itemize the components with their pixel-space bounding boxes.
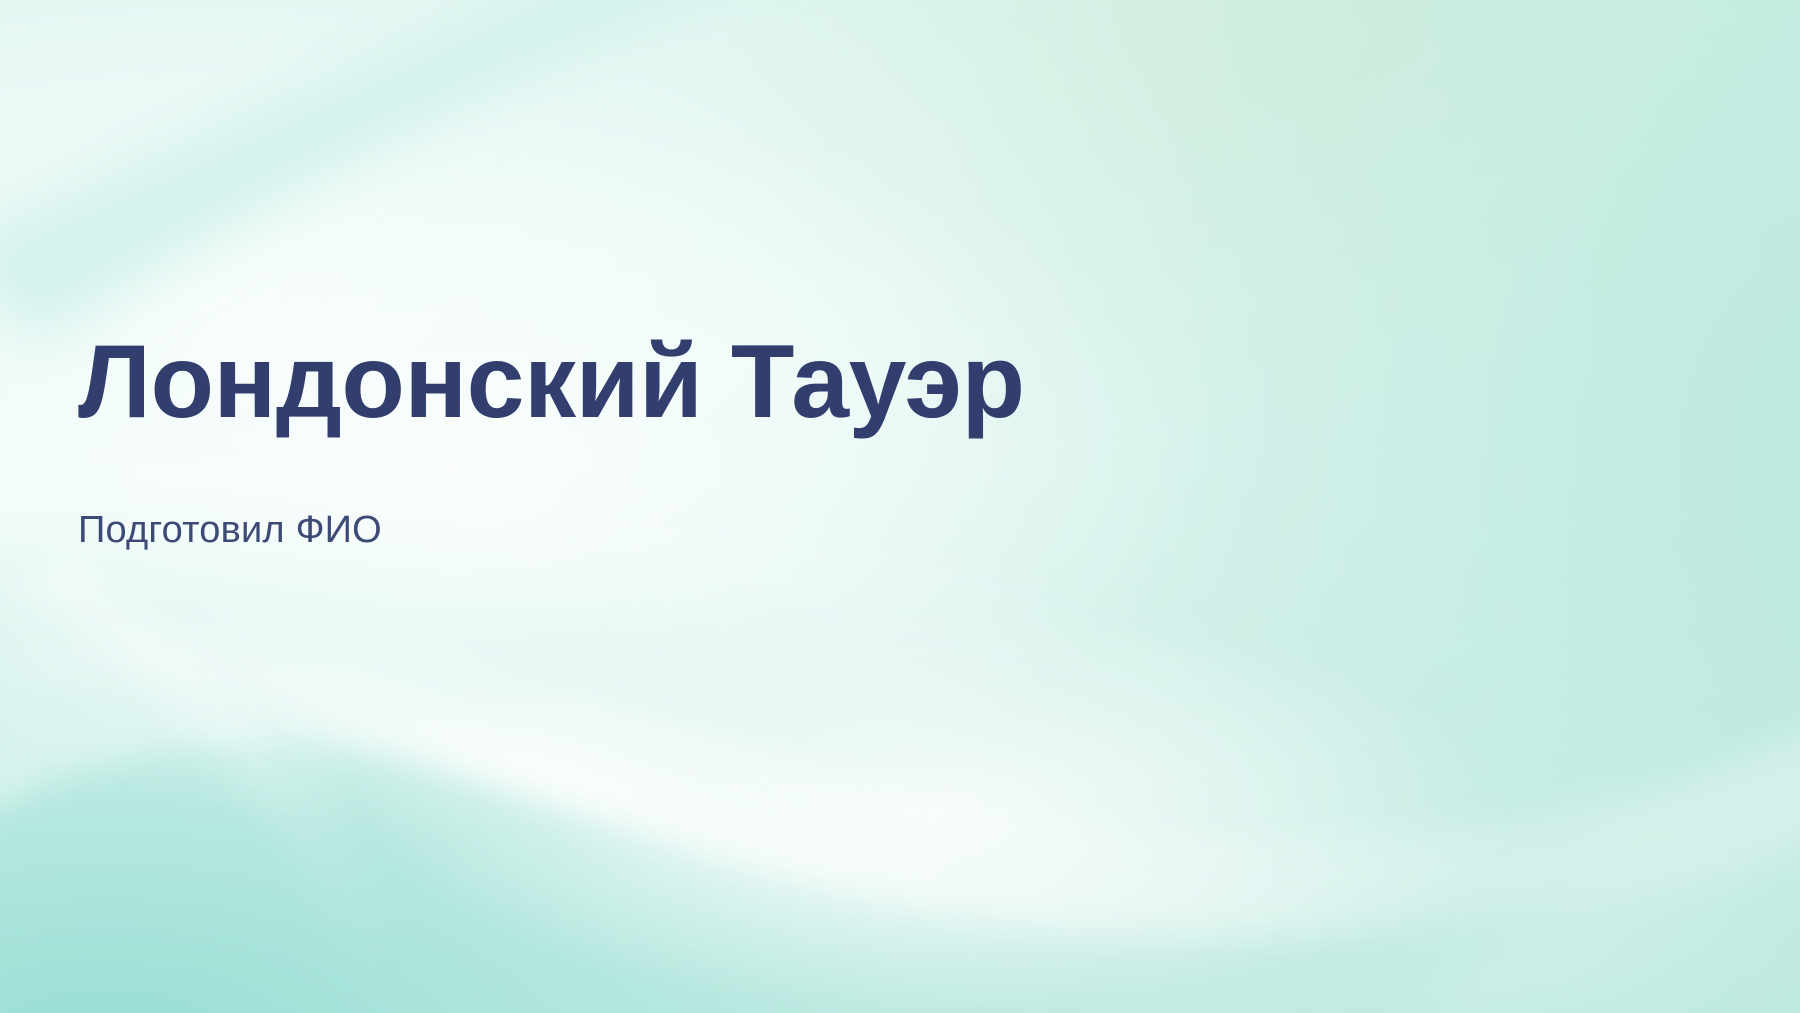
wave-band-lower-sweep bbox=[0, 620, 1800, 939]
wave-band-top-left bbox=[0, 0, 820, 350]
wave-band-bottom-right bbox=[1400, 740, 1800, 1013]
page-title: Лондонский Тауэр bbox=[78, 328, 1378, 436]
slide-text-block: Лондонский Тауэр Подготовил ФИО bbox=[78, 328, 1378, 554]
wave-streak-left bbox=[20, 560, 470, 1013]
slide-subtitle-author: Подготовил ФИО bbox=[78, 436, 1378, 554]
title-slide: Лондонский Тауэр Подготовил ФИО bbox=[0, 0, 1800, 1013]
wave-band-highlight bbox=[0, 623, 1800, 936]
